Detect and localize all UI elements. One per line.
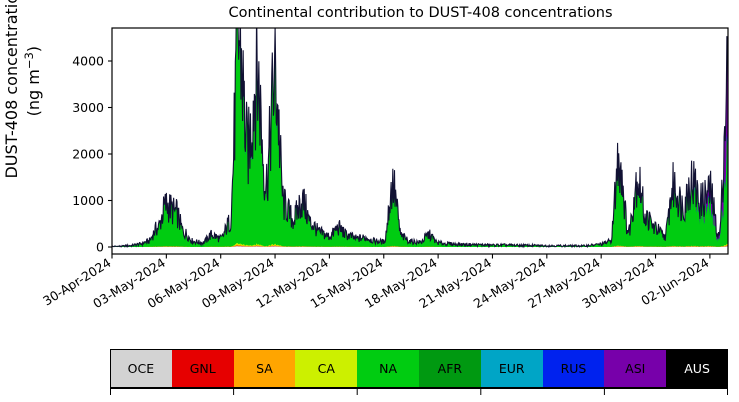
legend-item-afr[interactable]: AFR <box>419 349 481 388</box>
legend-item-oce[interactable]: OCE <box>110 349 172 388</box>
y-tick-label: 2000 <box>72 147 104 162</box>
legend-item-asi[interactable]: ASI <box>604 349 666 388</box>
legend-item-label: SA <box>256 361 273 376</box>
legend-item-label: EUR <box>499 361 525 376</box>
plot-area: 01000200030004000 30-Apr-202403-May-2024… <box>0 0 739 345</box>
legend-item-ca[interactable]: CA <box>295 349 357 388</box>
legend-item-label: AFR <box>438 361 462 376</box>
legend-item-rus[interactable]: RUS <box>543 349 605 388</box>
legend-item-aus[interactable]: AUS <box>666 349 728 388</box>
y-tick-label: 1000 <box>72 193 104 208</box>
legend-item-gnl[interactable]: GNL <box>172 349 234 388</box>
legend-item-na[interactable]: NA <box>357 349 419 388</box>
legend-item-label: OCE <box>128 361 154 376</box>
legend-item-label: GNL <box>190 361 216 376</box>
legend-item-label: RUS <box>561 361 587 376</box>
y-tick-label: 0 <box>96 240 104 255</box>
y-tick-label: 4000 <box>72 54 104 69</box>
legend-item-label: CA <box>318 361 335 376</box>
y-tick-label: 3000 <box>72 100 104 115</box>
legend-item-eur[interactable]: EUR <box>481 349 543 388</box>
y-axis-ticks: 01000200030004000 <box>72 54 112 255</box>
legend-item-label: AUS <box>684 361 710 376</box>
legend-axis-ticks <box>110 388 728 402</box>
legend: OCEGNLSACANAAFREURRUSASIAUS <box>110 349 728 388</box>
chart-page: Continental contribution to DUST-408 con… <box>0 0 739 402</box>
x-axis-ticks: 30-Apr-202403-May-202406-May-202409-May-… <box>40 254 711 311</box>
legend-item-label: ASI <box>625 361 645 376</box>
legend-item-sa[interactable]: SA <box>234 349 296 388</box>
legend-item-label: NA <box>379 361 397 376</box>
